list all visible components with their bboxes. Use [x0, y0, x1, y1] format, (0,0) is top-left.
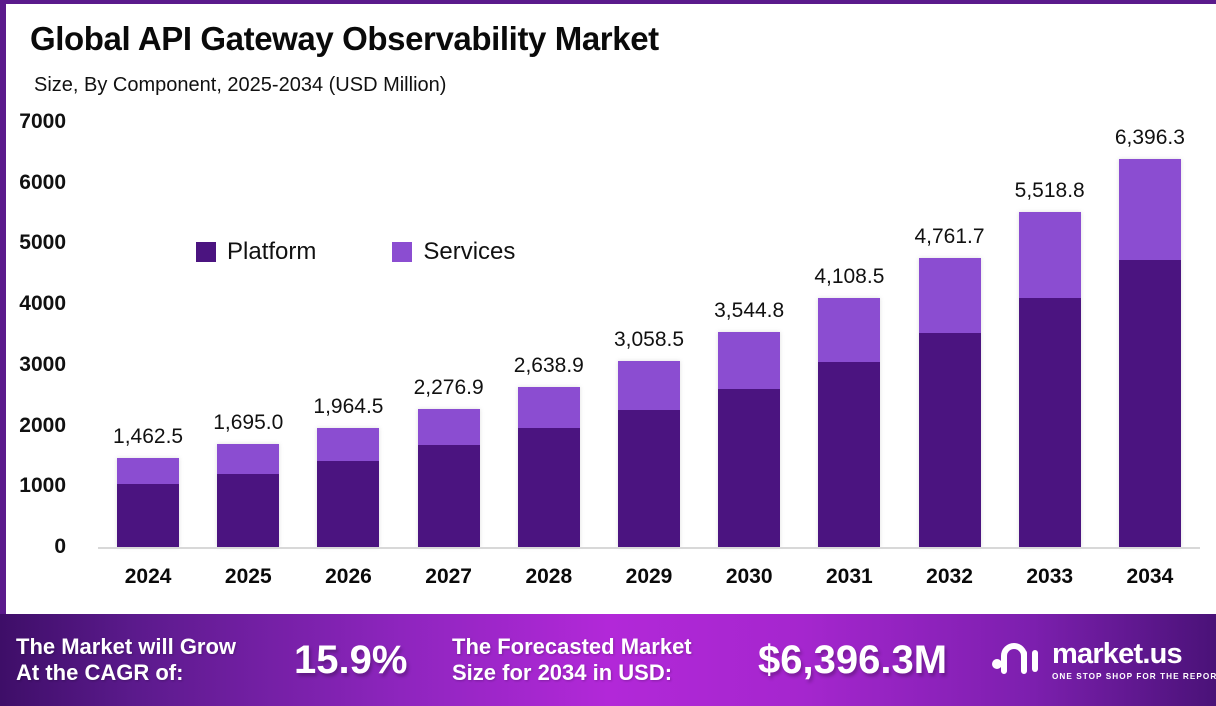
y-axis-tick: 4000 — [0, 292, 66, 316]
bar-group: 5,518.82033 — [1019, 122, 1081, 547]
x-axis-baseline — [98, 547, 1200, 549]
forecast-caption-line2: Size for 2034 in USD: — [452, 660, 692, 686]
bar-segment-platform[interactable] — [317, 461, 379, 547]
market-us-logo-icon — [990, 641, 1042, 680]
bar-group: 4,108.52031 — [818, 122, 880, 547]
x-axis-tick: 2034 — [1075, 565, 1216, 589]
bar-group: 1,462.52024 — [117, 122, 179, 547]
bar-segment-platform[interactable] — [1019, 298, 1081, 547]
bar-value-label: 4,761.7 — [875, 225, 1025, 249]
forecast-caption-line1: The Forecasted Market — [452, 634, 692, 660]
y-axis-tick: 7000 — [0, 110, 66, 134]
stacked-bar[interactable] — [1019, 212, 1081, 547]
bar-segment-platform[interactable] — [518, 428, 580, 547]
y-axis-tick: 2000 — [0, 414, 66, 438]
bar-group: 1,695.02025 — [217, 122, 279, 547]
bar-segment-platform[interactable] — [418, 445, 480, 547]
bar-group: 2,638.92028 — [518, 122, 580, 547]
bar-segment-platform[interactable] — [718, 389, 780, 547]
bar-group: 3,058.52029 — [618, 122, 680, 547]
logo-name: market.us — [1052, 640, 1216, 669]
stacked-bar[interactable] — [1119, 159, 1181, 547]
bar-value-label: 3,544.8 — [674, 299, 824, 323]
bar-value-label: 3,058.5 — [574, 328, 724, 352]
y-axis-tick: 6000 — [0, 171, 66, 195]
stacked-bar[interactable] — [217, 444, 279, 547]
bar-segment-services[interactable] — [718, 332, 780, 389]
legend-item-platform[interactable]: Platform — [196, 238, 316, 266]
y-axis-tick: 3000 — [0, 353, 66, 377]
bar-segment-platform[interactable] — [117, 484, 179, 547]
bar-group: 2,276.92027 — [418, 122, 480, 547]
bar-value-label: 2,638.9 — [474, 354, 624, 378]
bar-segment-platform[interactable] — [1119, 260, 1181, 547]
bar-segment-services[interactable] — [818, 298, 880, 363]
chart-legend: Platform Services — [196, 238, 515, 266]
page-title: Global API Gateway Observability Market — [30, 20, 659, 58]
stacked-bar[interactable] — [418, 409, 480, 547]
cagr-caption-line2: At the CAGR of: — [16, 660, 236, 686]
bar-segment-services[interactable] — [1119, 159, 1181, 261]
cagr-value: 15.9% — [294, 638, 407, 683]
bar-value-label: 2,276.9 — [374, 376, 524, 400]
market-us-logo[interactable]: market.us ONE STOP SHOP FOR THE REPORTS — [990, 640, 1216, 681]
bar-segment-platform[interactable] — [217, 474, 279, 547]
bar-segment-platform[interactable] — [919, 333, 981, 547]
bar-segment-platform[interactable] — [818, 362, 880, 547]
legend-label-platform: Platform — [227, 238, 316, 266]
stacked-bar[interactable] — [818, 298, 880, 547]
bar-segment-services[interactable] — [1019, 212, 1081, 298]
legend-swatch-platform — [196, 242, 216, 262]
bar-segment-services[interactable] — [518, 387, 580, 429]
y-axis-tick: 1000 — [0, 474, 66, 498]
summary-banner: The Market will Grow At the CAGR of: 15.… — [0, 614, 1216, 706]
bar-group: 3,544.82030 — [718, 122, 780, 547]
bar-segment-services[interactable] — [117, 458, 179, 484]
forecast-value: $6,396.3M — [758, 638, 947, 683]
cagr-caption: The Market will Grow At the CAGR of: — [16, 634, 236, 686]
page-subtitle: Size, By Component, 2025-2034 (USD Milli… — [34, 74, 446, 97]
stacked-bar[interactable] — [618, 361, 680, 547]
forecast-caption: The Forecasted Market Size for 2034 in U… — [452, 634, 692, 686]
chart-infographic: Global API Gateway Observability Market … — [0, 0, 1216, 706]
y-axis-tick: 5000 — [0, 231, 66, 255]
stacked-bar[interactable] — [919, 258, 981, 547]
legend-label-services: Services — [423, 238, 515, 266]
stacked-bar[interactable] — [317, 428, 379, 547]
bar-value-label: 5,518.8 — [975, 179, 1125, 203]
stacked-bar[interactable] — [117, 458, 179, 547]
legend-swatch-services — [392, 242, 412, 262]
bar-segment-services[interactable] — [618, 361, 680, 410]
cagr-caption-line1: The Market will Grow — [16, 634, 236, 660]
legend-item-services[interactable]: Services — [392, 238, 515, 266]
bar-group: 4,761.72032 — [919, 122, 981, 547]
bar-value-label: 6,396.3 — [1075, 126, 1216, 150]
plot-area: 70006000500040003000200010000 1,462.5202… — [98, 122, 1200, 547]
bar-group: 1,964.52026 — [317, 122, 379, 547]
stacked-bar[interactable] — [718, 332, 780, 547]
bar-segment-services[interactable] — [217, 444, 279, 473]
bar-segment-platform[interactable] — [618, 410, 680, 547]
bar-group: 6,396.32034 — [1119, 122, 1181, 547]
bar-value-label: 4,108.5 — [774, 265, 924, 289]
logo-tagline: ONE STOP SHOP FOR THE REPORTS — [1052, 672, 1216, 681]
market-us-logo-text: market.us ONE STOP SHOP FOR THE REPORTS — [1052, 640, 1216, 681]
stacked-bar[interactable] — [518, 387, 580, 547]
bar-segment-services[interactable] — [418, 409, 480, 445]
bar-segment-services[interactable] — [317, 428, 379, 461]
bar-segment-services[interactable] — [919, 258, 981, 333]
y-axis-tick: 0 — [0, 535, 66, 559]
